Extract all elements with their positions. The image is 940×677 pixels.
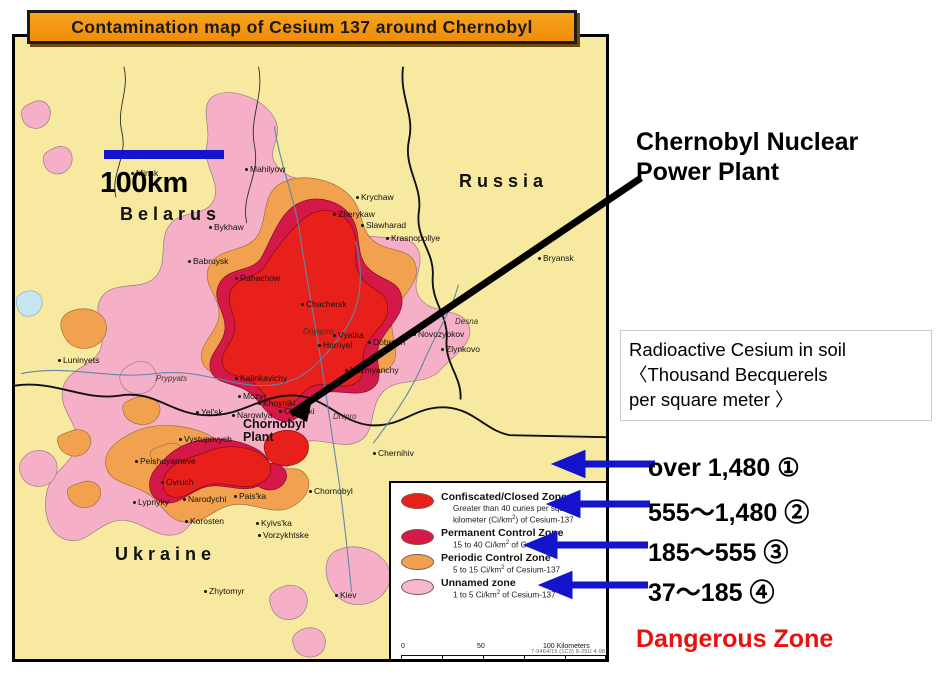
value-row: 185～555 ③ bbox=[618, 532, 938, 572]
legend-entry-title: Unnamed zone bbox=[441, 577, 609, 589]
legend-entry-title: Permanent Control Zone bbox=[441, 527, 609, 539]
city-dot bbox=[309, 490, 312, 493]
city-dot bbox=[185, 520, 188, 523]
city-label: Vorzykhtske bbox=[263, 530, 309, 540]
legend-entry-desc-line1: Greater than 40 curies per square bbox=[453, 504, 609, 514]
city-label: Ovruch bbox=[166, 477, 193, 487]
value-row-label: over 1,480 ① bbox=[648, 453, 800, 483]
city-label: Vyatka bbox=[338, 330, 364, 340]
value-row: over 1,480 ① bbox=[618, 452, 938, 492]
city-label: Yel'sk bbox=[201, 407, 223, 417]
city-label: Krychaw bbox=[361, 192, 394, 202]
city-dot bbox=[179, 438, 182, 441]
city-dot bbox=[235, 277, 238, 280]
title-banner-text: Contamination map of Cesium 137 around C… bbox=[71, 17, 533, 38]
city-label: Chornobyl bbox=[314, 486, 353, 496]
legend-entry-desc-line2: 1 to 5 Ci/km2 of Cesium-137 bbox=[453, 590, 609, 601]
map-label-chornobyl-plant: Chornobyl Plant bbox=[243, 418, 306, 444]
map-legend: Confiscated/Closed ZoneGreater than 40 c… bbox=[389, 481, 609, 662]
city-dot bbox=[161, 481, 164, 484]
city-label: Zhytomyr bbox=[209, 586, 244, 596]
city-dot bbox=[356, 196, 359, 199]
city-dot bbox=[335, 594, 338, 597]
city-label: Slawharad bbox=[366, 220, 406, 230]
city-dot bbox=[441, 348, 444, 351]
city-dot bbox=[234, 495, 237, 498]
legend-desc-pre: 15 to 40 Ci/km bbox=[453, 541, 506, 550]
city-label: Dobrush bbox=[373, 337, 405, 347]
city-label: Babruysk bbox=[193, 256, 228, 266]
city-dot bbox=[258, 402, 261, 405]
city-dot bbox=[204, 590, 207, 593]
city-dot bbox=[279, 410, 282, 413]
soil-note-line2: 〈Thousand Becquerels bbox=[629, 362, 923, 387]
city-label: Kyivs'ka bbox=[261, 518, 292, 528]
city-label: Kalinkavichy bbox=[240, 373, 287, 383]
city-dot bbox=[345, 369, 348, 372]
map-credit-text: 7-9464/15 (1C3) 8-25U 4-98 bbox=[531, 649, 605, 655]
value-row-label: 555～1,480 ② bbox=[648, 493, 809, 529]
city-dot bbox=[196, 411, 199, 414]
city-dot bbox=[183, 498, 186, 501]
city-dot bbox=[413, 333, 416, 336]
city-label: Kazmyanchy bbox=[350, 365, 399, 375]
country-label-russia: Russia bbox=[459, 171, 548, 192]
legend-entry-desc-line2: kilometer (Ci/km2) of Cesium-137 bbox=[453, 515, 609, 526]
legend-desc-pre: 5 to 15 Ci/km bbox=[453, 566, 501, 575]
scalebar-100km-label: 100km bbox=[100, 167, 188, 200]
city-dot bbox=[386, 237, 389, 240]
city-label: Choyriki bbox=[284, 406, 315, 416]
city-label: Krasnopollye bbox=[391, 233, 440, 243]
plant-callout: Chernobyl Nuclear Power Plant bbox=[636, 128, 858, 187]
city-label: Zherykaw bbox=[338, 209, 375, 219]
city-label: Pais'ka bbox=[239, 491, 266, 501]
legend-entry-title: Confiscated/Closed Zone bbox=[441, 491, 609, 503]
legend-entry: Confiscated/Closed ZoneGreater than 40 c… bbox=[397, 491, 609, 526]
legend-color-swatch bbox=[401, 579, 434, 595]
city-label: Vystupovych bbox=[184, 434, 232, 444]
soil-note-line1: Radioactive Cesium in soil bbox=[629, 337, 923, 362]
city-dot bbox=[133, 501, 136, 504]
city-dot bbox=[238, 395, 241, 398]
legend-desc-post: of Cesium-137 bbox=[509, 541, 565, 550]
city-label: Bryansk bbox=[543, 253, 574, 263]
value-list: over 1,480 ①555～1,480 ②185～555 ③37～185 ④ bbox=[618, 452, 938, 612]
legend-entry-title: Periodic Control Zone bbox=[441, 552, 609, 564]
city-dot bbox=[333, 213, 336, 216]
city-label: Luninyets bbox=[63, 355, 99, 365]
city-label: Narodychi bbox=[188, 494, 226, 504]
city-dot bbox=[235, 377, 238, 380]
river-label: Dnipro bbox=[333, 412, 357, 421]
river-label: Prypyats bbox=[156, 374, 187, 383]
plant-callout-line1: Chernobyl Nuclear bbox=[636, 128, 858, 158]
city-dot bbox=[209, 226, 212, 229]
city-label: Chernihiv bbox=[378, 448, 414, 458]
value-row: 37～185 ④ bbox=[618, 572, 938, 612]
chornobyl-plant-line2: Plant bbox=[243, 431, 306, 444]
legend-entry: Unnamed zone1 to 5 Ci/km2 of Cesium-137 bbox=[397, 577, 609, 601]
legend-entries: Confiscated/Closed ZoneGreater than 40 c… bbox=[397, 491, 609, 601]
soil-note-line3: per square meter 〉 bbox=[629, 387, 923, 412]
city-dot bbox=[333, 334, 336, 337]
plant-callout-line2: Power Plant bbox=[636, 158, 858, 188]
dangerous-zone-label: Dangerous Zone bbox=[636, 625, 833, 654]
scalebar-100km-bar bbox=[104, 150, 224, 159]
soil-note-box: Radioactive Cesium in soil 〈Thousand Bec… bbox=[620, 330, 932, 421]
legend-entry-desc-line2: 15 to 40 Ci/km2 of Cesium-137 bbox=[453, 540, 609, 551]
scale-km-tick-0: 0 bbox=[401, 643, 405, 650]
country-label-belarus: Belarus bbox=[120, 204, 221, 225]
city-dot bbox=[256, 522, 259, 525]
city-dot bbox=[245, 168, 248, 171]
city-label: Kiev bbox=[340, 590, 357, 600]
city-label: Rahachow bbox=[240, 273, 280, 283]
city-label: Zlynkovo bbox=[446, 344, 480, 354]
city-label: Peishuyameve bbox=[140, 456, 196, 466]
legend-entry: Permanent Control Zone15 to 40 Ci/km2 of… bbox=[397, 527, 609, 551]
legend-desc-pre: kilometer (Ci/km bbox=[453, 516, 512, 525]
legend-entry-desc-line2: 5 to 15 Ci/km2 of Cesium-137 bbox=[453, 565, 609, 576]
legend-color-swatch bbox=[401, 493, 434, 509]
city-label: Novozybkov bbox=[418, 329, 464, 339]
legend-entry: Periodic Control Zone5 to 15 Ci/km2 of C… bbox=[397, 552, 609, 576]
legend-desc-post: of Cesium-137 bbox=[500, 591, 556, 600]
value-row-label: 37～185 ④ bbox=[648, 573, 774, 609]
city-label: Chachersk bbox=[306, 299, 347, 309]
city-label: Lypnyky bbox=[138, 497, 169, 507]
city-dot bbox=[135, 460, 138, 463]
legend-desc-post: of Cesium-137 bbox=[505, 566, 561, 575]
city-label: Korosten bbox=[190, 516, 224, 526]
city-label: Mahilyow bbox=[250, 164, 285, 174]
city-label: Hornyel bbox=[323, 340, 352, 350]
city-dot bbox=[538, 257, 541, 260]
value-row: 555～1,480 ② bbox=[618, 492, 938, 532]
scale-line bbox=[401, 655, 607, 662]
legend-color-swatch bbox=[401, 554, 434, 570]
city-dot bbox=[58, 359, 61, 362]
city-dot bbox=[368, 341, 371, 344]
city-dot bbox=[301, 303, 304, 306]
city-dot bbox=[373, 452, 376, 455]
city-dot bbox=[258, 534, 261, 537]
legend-desc-post: ) of Cesium-137 bbox=[515, 516, 573, 525]
river-label: Dnyapro bbox=[303, 327, 333, 336]
value-row-label: 185～555 ③ bbox=[648, 533, 788, 569]
scale-km-tick-50: 50 bbox=[477, 643, 485, 650]
map-frame: 100km Belarus Russia Ukraine Chornobyl P… bbox=[12, 34, 609, 662]
city-dot bbox=[188, 260, 191, 263]
city-dot bbox=[318, 344, 321, 347]
title-banner: Contamination map of Cesium 137 around C… bbox=[27, 10, 577, 44]
country-label-ukraine: Ukraine bbox=[115, 544, 216, 565]
river-label: Desna bbox=[455, 317, 478, 326]
legend-color-swatch bbox=[401, 529, 434, 545]
city-dot bbox=[361, 224, 364, 227]
legend-desc-pre: 1 to 5 Ci/km bbox=[453, 591, 497, 600]
city-dot bbox=[232, 414, 235, 417]
